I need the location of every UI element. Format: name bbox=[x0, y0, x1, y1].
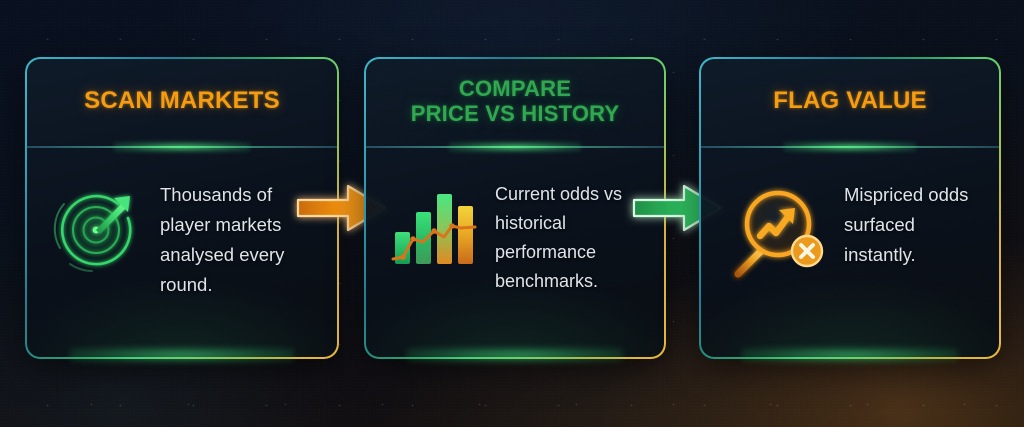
card-divider bbox=[366, 146, 664, 148]
card-compare-price-vs-history[interactable]: COMPARE PRICE VS HISTORY bbox=[365, 58, 665, 358]
card-divider bbox=[701, 146, 999, 148]
card-divider bbox=[27, 146, 337, 148]
card-scan-markets[interactable]: SCAN MARKETS bbox=[26, 58, 338, 358]
card-title-compare-price-vs-history: COMPARE PRICE VS HISTORY bbox=[365, 58, 665, 145]
card-body: Mispriced odds surfaced instantly. bbox=[700, 150, 1000, 358]
magnifier-trend-alert-icon bbox=[724, 180, 828, 284]
card-body: Current odds vs historical performance b… bbox=[365, 150, 665, 358]
card-description-compare-price-vs-history: Current odds vs historical performance b… bbox=[495, 178, 651, 297]
card-title-scan-markets: SCAN MARKETS bbox=[26, 58, 338, 145]
card-description-scan-markets: Thousands of player markets analysed eve… bbox=[158, 178, 324, 300]
bar-chart-trend-icon bbox=[389, 182, 485, 278]
card-title-line-1: COMPARE bbox=[459, 76, 571, 101]
card-body: Thousands of player markets analysed eve… bbox=[26, 150, 338, 358]
radar-icon bbox=[44, 178, 148, 282]
card-flag-value[interactable]: FLAG VALUE bbox=[700, 58, 1000, 358]
card-title-line-2: PRICE VS HISTORY bbox=[411, 101, 620, 126]
card-title-flag-value: FLAG VALUE bbox=[700, 58, 1000, 145]
process-flow-diagram: SCAN MARKETS bbox=[0, 0, 1024, 427]
card-description-flag-value: Mispriced odds surfaced instantly. bbox=[838, 178, 986, 270]
